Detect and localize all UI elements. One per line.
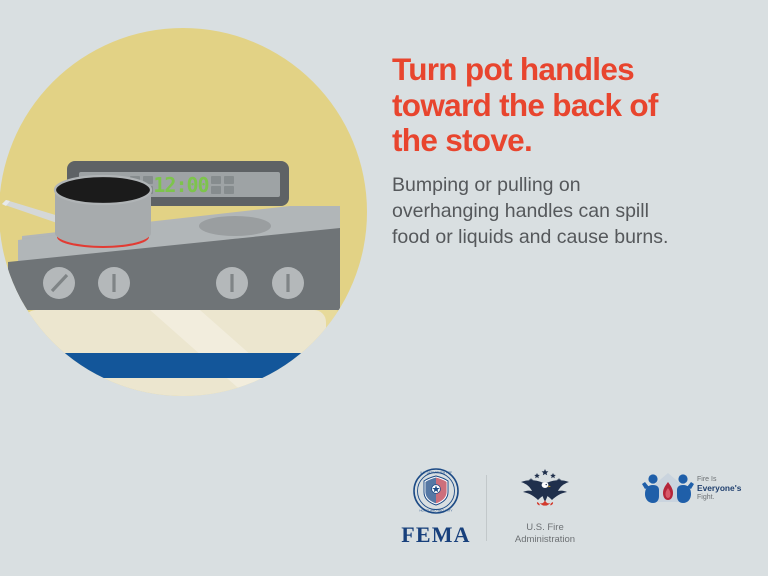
usfa-caption-line-1: U.S. Fire — [502, 522, 588, 534]
headline-line-1: Turn pot handles — [392, 52, 730, 88]
fire-is-everyones-fight-logo[interactable]: Fire Is Everyone's Fight. — [642, 468, 752, 510]
two-figures-flame-icon — [642, 468, 694, 510]
page-title: Turn pot handles toward the back of the … — [392, 52, 730, 159]
logo-divider — [486, 475, 487, 541]
stove-illustration: 12:00 — [0, 0, 380, 420]
feef-line-2: Everyone's — [697, 484, 741, 493]
usfa-eagle-icon — [515, 468, 575, 516]
body-copy: Bumping or pulling on overhanging handle… — [392, 172, 730, 251]
usfa-logo[interactable]: U.S. Fire Administration — [502, 468, 588, 545]
burner-rear-right[interactable] — [199, 216, 271, 236]
message-block: Turn pot handles toward the back of the … — [392, 52, 730, 251]
feef-line-3: Fight. — [697, 494, 741, 502]
logo-bar: U.S. DEPARTMENT OF HOMELAND SECURITY FEM… — [392, 468, 752, 558]
body-line-2: overhanging handles can spill — [392, 198, 730, 224]
oven-door-handle — [36, 353, 316, 378]
usfa-caption-line-2: Administration — [502, 534, 588, 546]
body-line-1: Bumping or pulling on — [392, 172, 730, 198]
clock-display-value: 12:00 — [153, 173, 208, 197]
poster-canvas: 12:00 — [0, 0, 768, 576]
fema-logo[interactable]: U.S. DEPARTMENT OF HOMELAND SECURITY FEM… — [396, 468, 476, 548]
dhs-seal-icon: U.S. DEPARTMENT OF HOMELAND SECURITY — [413, 468, 459, 514]
headline-line-3: the stove. — [392, 123, 730, 159]
feef-tagline: Fire Is Everyone's Fight. — [697, 476, 741, 501]
svg-text:HOMELAND SECURITY: HOMELAND SECURITY — [419, 509, 452, 513]
usfa-caption: U.S. Fire Administration — [502, 522, 588, 545]
body-line-3: food or liquids and cause burns. — [392, 224, 730, 250]
fema-wordmark: FEMA — [396, 522, 476, 548]
svg-text:U.S. DEPARTMENT OF: U.S. DEPARTMENT OF — [420, 471, 452, 475]
headline-line-2: toward the back of — [392, 88, 730, 124]
